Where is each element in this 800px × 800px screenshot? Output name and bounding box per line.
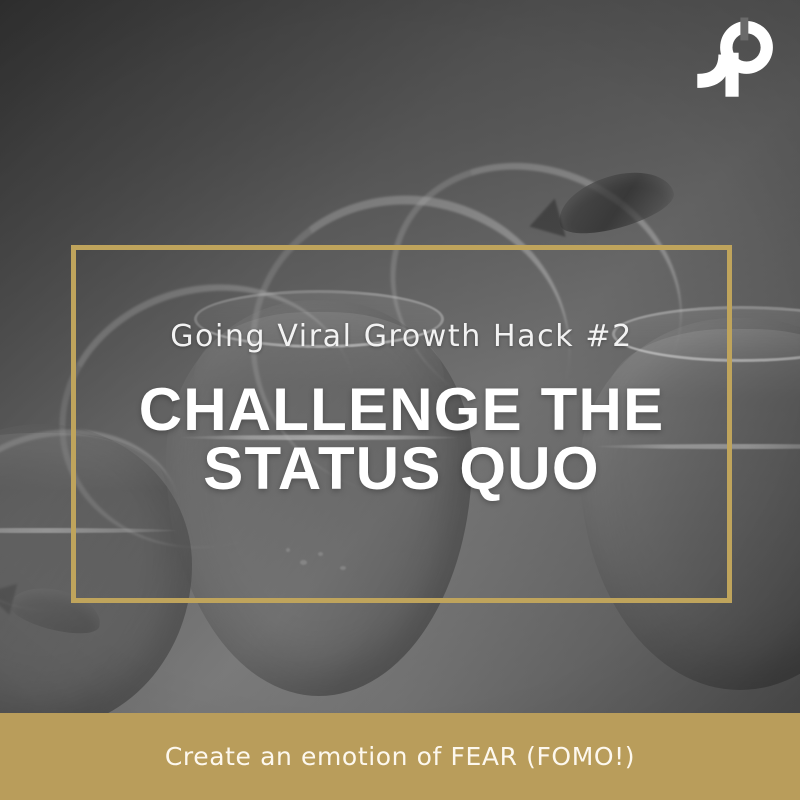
eyebrow-text: Going Viral Growth Hack #2 [170, 320, 633, 353]
brand-logo[interactable] [692, 14, 780, 102]
stylized-p-logo-icon [692, 14, 780, 102]
poster-canvas: Going Viral Growth Hack #2 CHALLENGE THE… [0, 0, 800, 800]
bottom-banner: Create an emotion of FEAR (FOMO!) [0, 713, 800, 800]
headline-line-2: STATUS QUO [139, 440, 665, 499]
headline-line-1: CHALLENGE THE [139, 381, 665, 440]
banner-caption: Create an emotion of FEAR (FOMO!) [165, 742, 635, 771]
headline-text-block: Going Viral Growth Hack #2 CHALLENGE THE… [71, 245, 732, 603]
page-title: CHALLENGE THE STATUS QUO [139, 381, 665, 499]
